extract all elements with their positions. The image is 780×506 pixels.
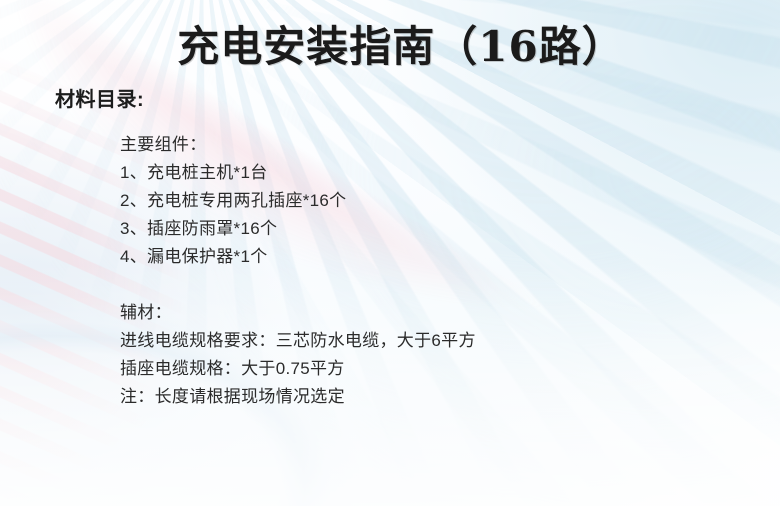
auxiliary-line-socket-cable-spec: 插座电缆规格：大于0.75平方 — [120, 355, 476, 383]
main-components-label: 主要组件： — [120, 131, 476, 159]
main-component-item-4: 4、漏电保护器*1个 — [120, 243, 476, 271]
slide-content: 充电安装指南（16路） 材料目录: 主要组件： 1、充电桩主机*1台 2、充电桩… — [0, 0, 780, 506]
auxiliary-line-incoming-cable-spec: 进线电缆规格要求：三芯防水电缆，大于6平方 — [120, 327, 476, 355]
main-component-item-2: 2、充电桩专用两孔插座*16个 — [120, 187, 476, 215]
materials-body: 主要组件： 1、充电桩主机*1台 2、充电桩专用两孔插座*16个 3、插座防雨罩… — [120, 131, 476, 411]
presentation-slide: 充电安装指南（16路） 材料目录: 主要组件： 1、充电桩主机*1台 2、充电桩… — [0, 0, 780, 506]
section-spacer — [120, 271, 476, 299]
auxiliary-line-note: 注：长度请根据现场情况选定 — [120, 383, 476, 411]
main-component-item-3: 3、插座防雨罩*16个 — [120, 215, 476, 243]
slide-title: 充电安装指南（16路） — [0, 13, 780, 74]
materials-list-heading: 材料目录: — [55, 83, 144, 112]
auxiliary-materials-label: 辅材： — [120, 299, 476, 327]
main-component-item-1: 1、充电桩主机*1台 — [120, 159, 476, 187]
